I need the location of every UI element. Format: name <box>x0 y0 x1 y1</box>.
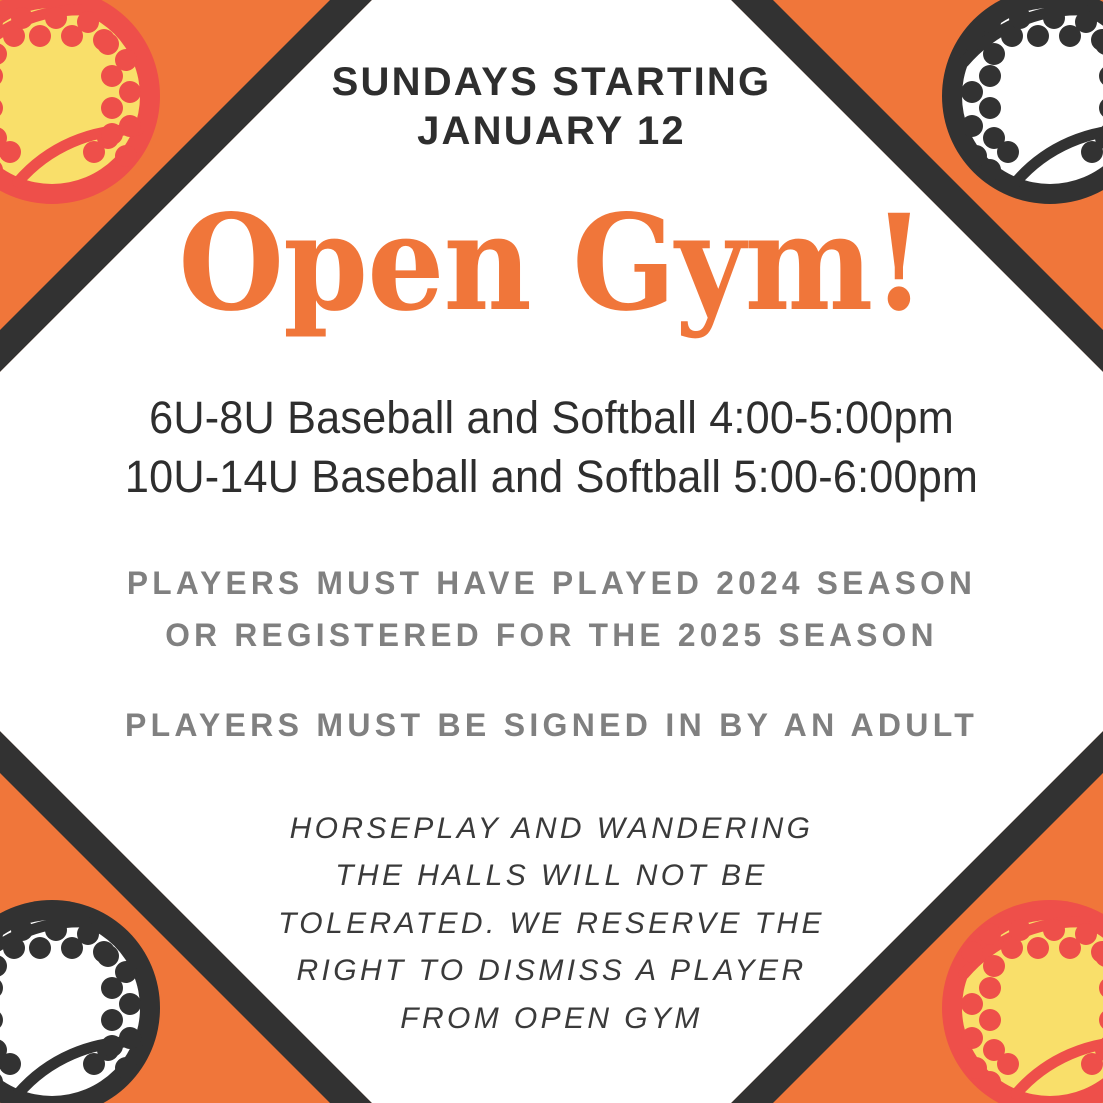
disclaimer-line-4: RIGHT TO DISMISS A PLAYER <box>0 947 1103 994</box>
open-gym-flyer: SUNDAYS STARTING JANUARY 12 Open Gym! 6U… <box>0 0 1103 1103</box>
header-line-1: SUNDAYS STARTING <box>0 58 1103 107</box>
disclaimer-line-2: THE HALLS WILL NOT BE <box>0 852 1103 899</box>
requirement-line-1: PLAYERS MUST HAVE PLAYED 2024 SEASON <box>6 558 1098 610</box>
conduct-disclaimer: HORSEPLAY AND WANDERING THE HALLS WILL N… <box>0 805 1103 1042</box>
eligibility-requirements: PLAYERS MUST HAVE PLAYED 2024 SEASON OR … <box>6 558 1098 662</box>
disclaimer-line-1: HORSEPLAY AND WANDERING <box>0 805 1103 852</box>
requirement-line-2: OR REGISTERED FOR THE 2025 SEASON <box>6 610 1098 662</box>
disclaimer-line-3: TOLERATED. WE RESERVE THE <box>0 900 1103 947</box>
schedule-line-1: 6U-8U Baseball and Softball 4:00-5:00pm <box>22 388 1081 447</box>
page-title: Open Gym! <box>44 198 1059 330</box>
schedule-list: 6U-8U Baseball and Softball 4:00-5:00pm … <box>22 388 1081 507</box>
schedule-line-2: 10U-14U Baseball and Softball 5:00-6:00p… <box>22 447 1081 506</box>
signin-requirement: PLAYERS MUST BE SIGNED IN BY AN ADULT <box>0 700 1103 752</box>
header-line-2: JANUARY 12 <box>0 107 1103 156</box>
disclaimer-line-5: FROM OPEN GYM <box>0 995 1103 1042</box>
event-date-header: SUNDAYS STARTING JANUARY 12 <box>0 58 1103 156</box>
